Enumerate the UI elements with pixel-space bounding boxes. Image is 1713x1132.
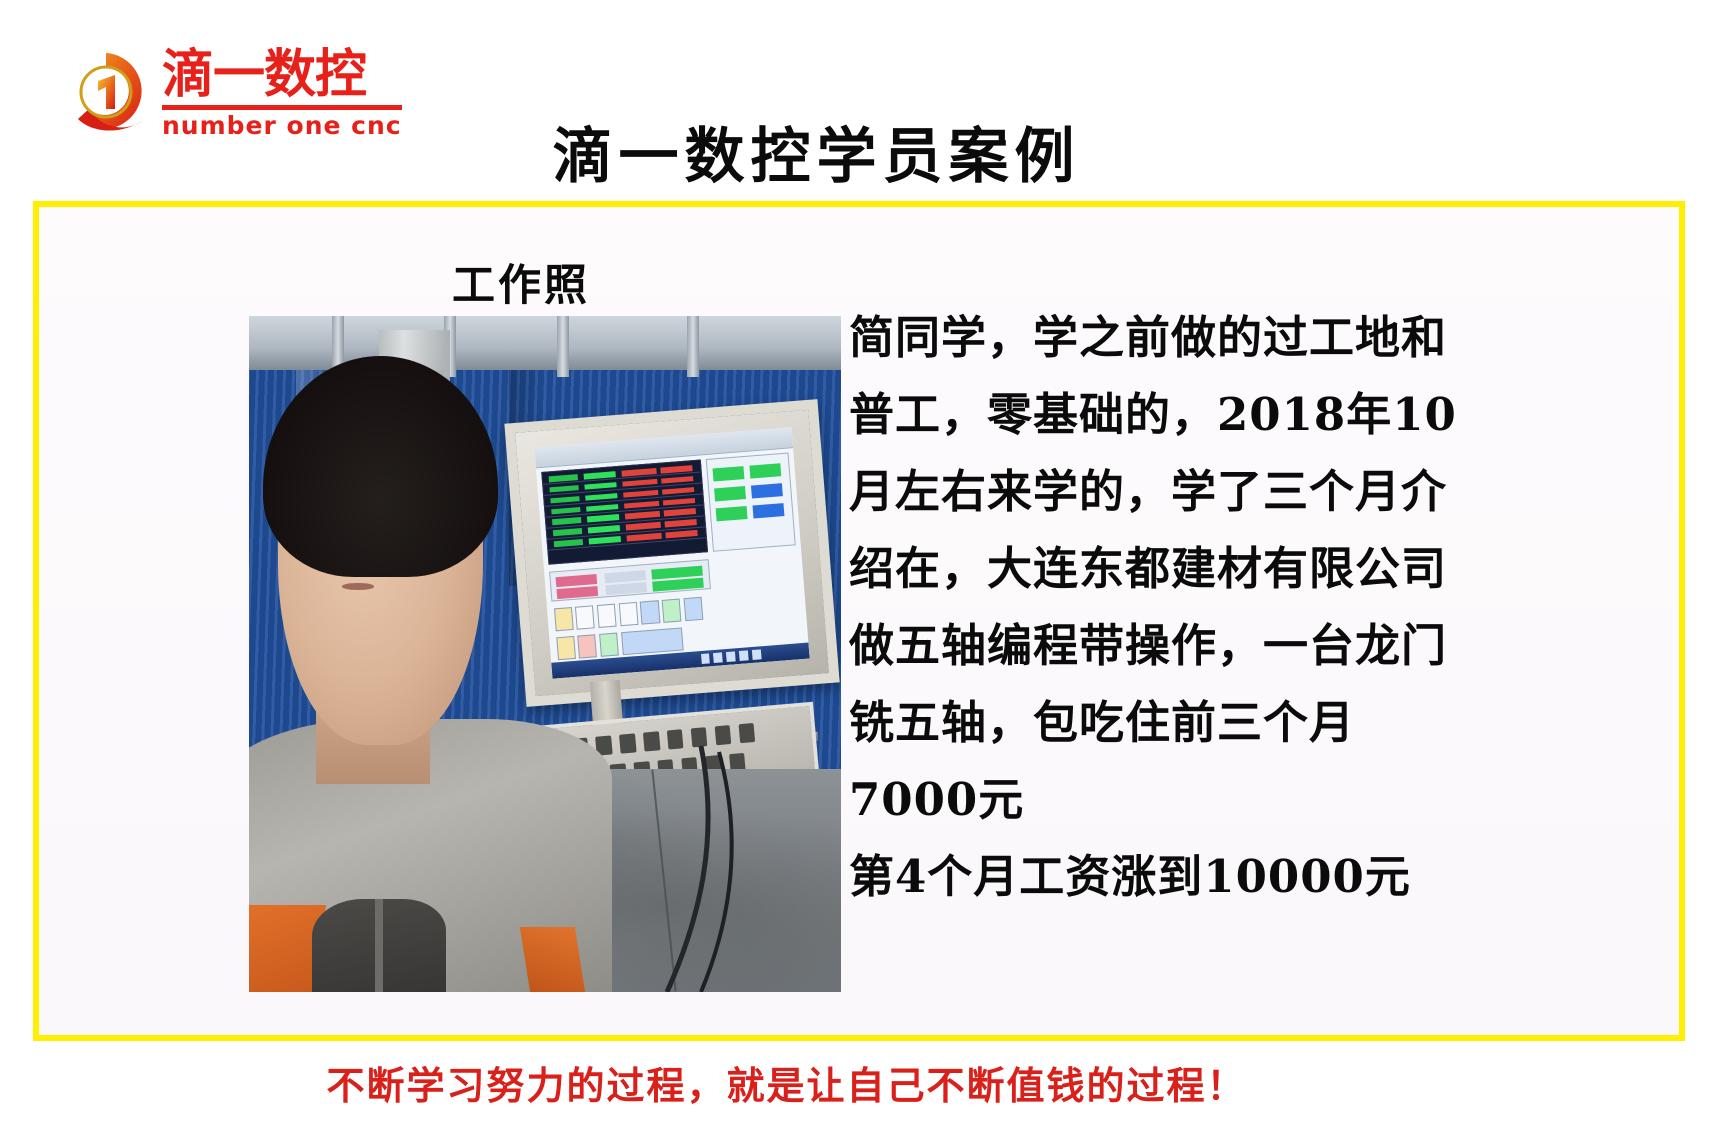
- story-line: 铣五轴，包吃住前三个月: [849, 684, 1549, 761]
- story-line: 做五轴编程带操作，一台龙门: [849, 607, 1549, 684]
- story-line: 简同学，学之前做的过工地和: [849, 299, 1549, 376]
- mouth: [342, 583, 375, 590]
- story-line: 第4个月工资涨到10000元: [849, 838, 1549, 915]
- story-line: 7000元: [849, 761, 1549, 838]
- student-portrait: [249, 343, 604, 992]
- jacket-orange-panel: [520, 927, 586, 992]
- content-frame: 工作照: [33, 201, 1685, 1041]
- story-line: 绍在，大连东都建材有限公司: [849, 530, 1549, 607]
- photo-label: 工作照: [452, 251, 590, 313]
- story-line: 月左右来学的，学了三个月介: [849, 453, 1549, 530]
- slide-header: 滴一数控 number one cnc 滴一数控学员案例: [0, 0, 1713, 200]
- footer-slogan: 不断学习努力的过程，就是让自己不断值钱的过程！: [0, 1055, 1713, 1110]
- page-title-text: 滴一数控学员案例: [553, 108, 1081, 195]
- jacket-zipper: [375, 899, 383, 992]
- work-photo: [249, 316, 841, 992]
- story-line: 普工，零基础的，2018年10: [849, 376, 1549, 453]
- page-title: 滴一数控学员案例: [0, 108, 1713, 195]
- brand-name-cn: 滴一数控: [162, 48, 402, 103]
- student-story: 简同学，学之前做的过工地和 普工，零基础的，2018年10 月左右来学的，学了三…: [849, 299, 1549, 915]
- work-jacket: [249, 719, 612, 992]
- footer-slogan-text: 不断学习努力的过程，就是让自己不断值钱的过程！: [326, 1055, 1246, 1110]
- photo-scene: [249, 316, 841, 992]
- hair: [263, 356, 498, 577]
